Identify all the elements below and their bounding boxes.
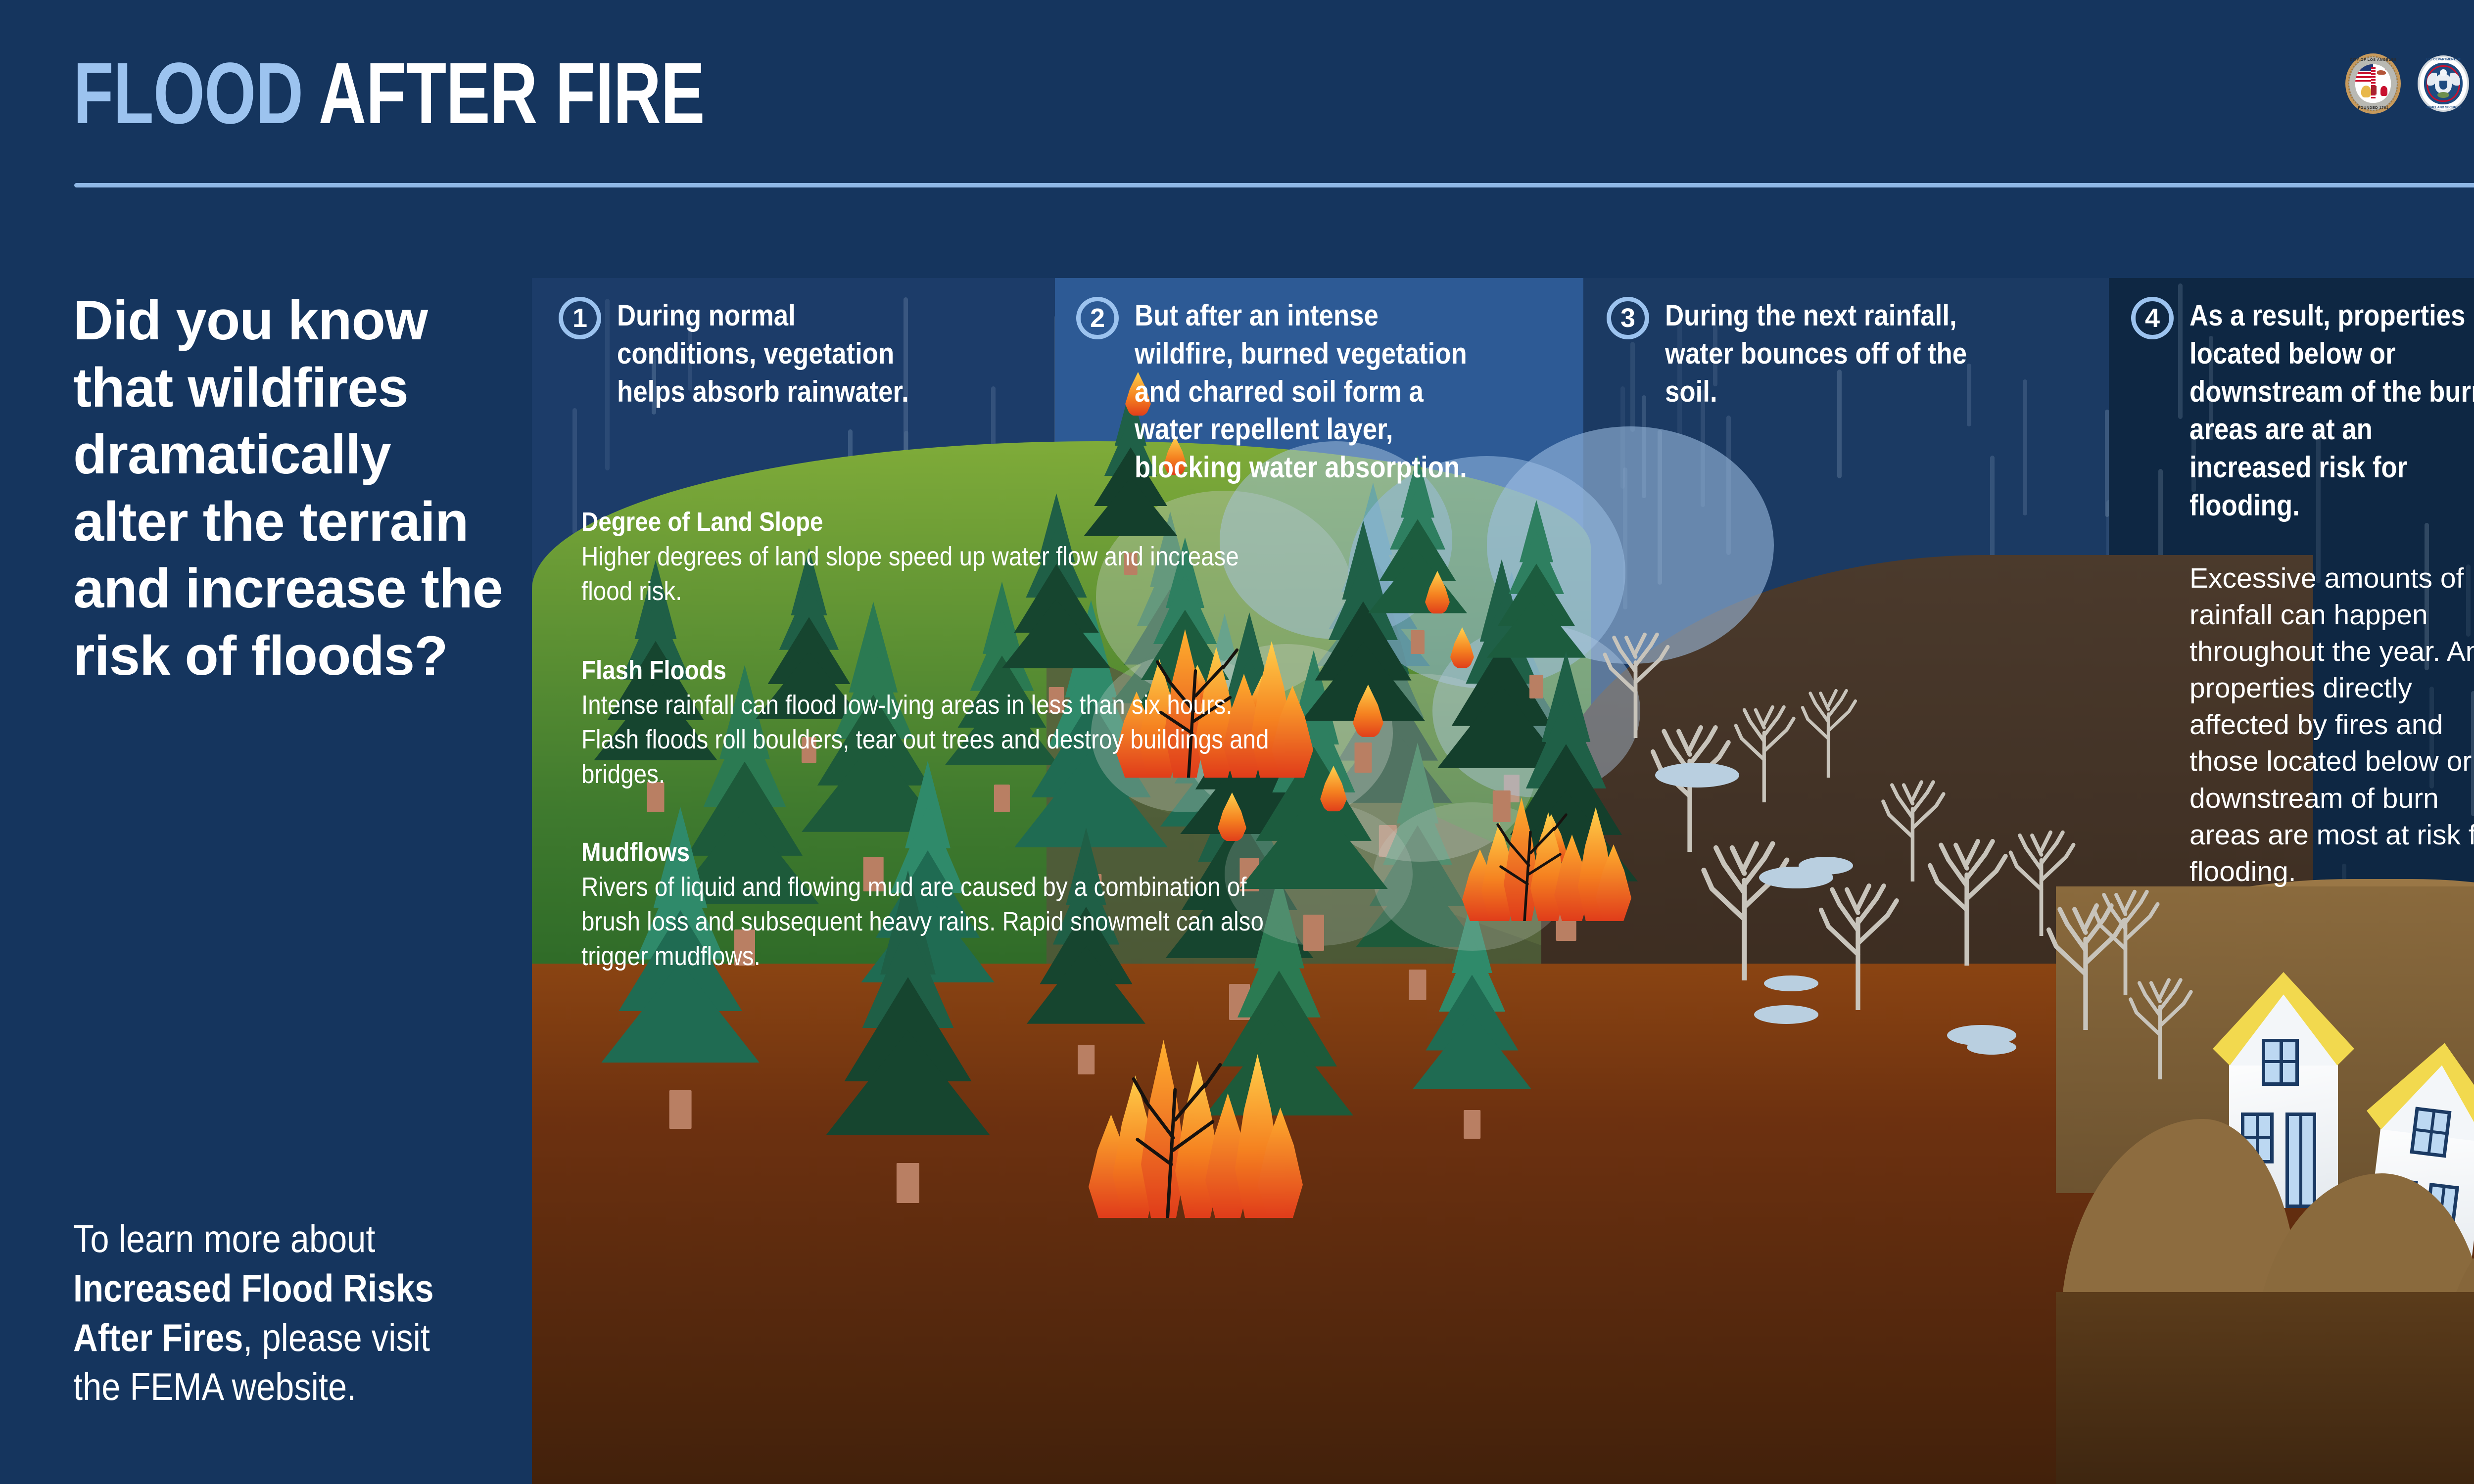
panel-4-paragraph: Excessive amounts of rainfall can happen… (2189, 560, 2474, 890)
step-4-callout: 4 As a result, properties located below … (2131, 297, 2474, 525)
info-block-mudflows: Mudflows Rivers of liquid and flowing mu… (581, 837, 1393, 974)
dead-bare-tree (1796, 674, 1860, 778)
dead-bare-tree (1694, 817, 1795, 980)
logo-group: CITY OF LOS ANGELES FOUNDED 1781 U.S. DE… (2345, 53, 2474, 114)
dhs-seal-bottom-label: HOMELAND SECURITY (2420, 106, 2467, 109)
wildfire-flames (1462, 797, 1611, 921)
step-2-callout: 2 But after an intense wildfire, burned … (1076, 297, 1522, 487)
house-door-mullion (2299, 1113, 2303, 1208)
info-block-land-slope: Degree of Land Slope Higher degrees of l… (581, 507, 1393, 608)
wildfire-flames (1089, 1040, 1277, 1218)
dead-bare-tree (1921, 817, 2013, 966)
dead-bare-tree (2123, 961, 2197, 1079)
charred-branch-icon (1089, 1040, 1277, 1218)
info-block-mudflows-heading: Mudflows (581, 837, 1295, 868)
water-puddle (1967, 1040, 2016, 1055)
info-block-mudflows-body: Rivers of liquid and flowing mud are cau… (581, 870, 1295, 974)
step-1-callout: 1 During normal conditions, vegetation h… (559, 297, 969, 411)
la-seal-bottom-label: FOUNDED 1781 (2348, 105, 2398, 110)
charred-branch-icon (1462, 797, 1611, 921)
sidebar-headline: Did you know that wildfires dramatically… (73, 287, 519, 689)
step-3-number-badge: 3 (1607, 297, 1649, 339)
water-puddle (1655, 763, 1739, 788)
info-block-land-slope-body: Higher degrees of land slope speed up wa… (581, 539, 1295, 608)
learn-more-prefix: To learn more about (73, 1217, 376, 1260)
house-upper-window-mullion-h (2262, 1060, 2299, 1064)
water-puddle (1764, 975, 1818, 991)
step-4-number-badge: 4 (2131, 297, 2174, 339)
step-4-text: As a result, properties located below or… (2189, 297, 2474, 525)
dhs-seal-top-label: U.S. DEPARTMENT OF (2420, 58, 2467, 61)
water-puddle (1754, 1005, 1818, 1024)
info-block-flash-floods-body: Intense rainfall can flood low-lying are… (581, 688, 1295, 792)
water-puddle (1799, 857, 1853, 875)
info-block-land-slope-heading: Degree of Land Slope (581, 507, 1295, 537)
tree-trunk (1411, 630, 1425, 654)
page-title: FLOOD AFTER FIRE (73, 44, 705, 143)
tree-foliage (826, 1030, 990, 1135)
tree-foliage (1487, 596, 1586, 658)
header-divider (74, 183, 2474, 187)
la-seal-top-label: CITY OF LOS ANGELES (2348, 57, 2398, 62)
tree-foliage (1413, 1014, 1531, 1089)
tree-trunk (897, 1163, 919, 1203)
page-header: FLOOD AFTER FIRE CITY OF LOS ANGELES FOU… (0, 0, 2474, 198)
step-3-callout: 3 During the next rainfall, water bounce… (1607, 297, 2052, 411)
step-1-number-badge: 1 (559, 297, 601, 339)
learn-more-text: To learn more about Increased Flood Risk… (73, 1214, 448, 1412)
step-3-text: During the next rainfall, water bounces … (1665, 297, 2005, 411)
step-1-text: During normal conditions, vegetation hel… (617, 297, 927, 411)
dead-bare-tree (1729, 689, 1800, 802)
infographic-illustration: 1 During normal conditions, vegetation h… (532, 278, 2474, 1484)
tree-trunk (669, 1090, 692, 1129)
step-2-text: But after an intense wildfire, burned ve… (1135, 297, 1475, 487)
dhs-seal-icon: U.S. DEPARTMENT OF HOMELAND SECURITY (2418, 55, 2469, 112)
step-2-number-badge: 2 (1076, 297, 1119, 339)
info-block-flash-floods-heading: Flash Floods (581, 655, 1295, 686)
city-of-los-angeles-seal-icon: CITY OF LOS ANGELES FOUNDED 1781 (2345, 53, 2401, 114)
info-block-flash-floods: Flash Floods Intense rainfall can flood … (581, 655, 1393, 792)
page-title-rest: AFTER FIRE (303, 45, 705, 142)
tree-foliage (601, 962, 760, 1063)
tree-trunk (1464, 1110, 1480, 1139)
left-sidebar: Did you know that wildfires dramatically… (0, 198, 532, 1484)
page-title-accent: FLOOD (73, 45, 303, 142)
mudflow-dark-toe (2056, 1292, 2474, 1484)
